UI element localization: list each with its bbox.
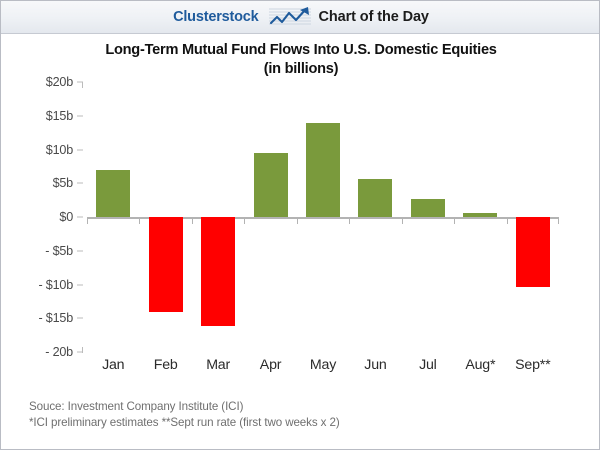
y-axis-top-cap bbox=[82, 82, 83, 88]
x-axis-label: Jun bbox=[364, 357, 386, 373]
chart-title: Long-Term Mutual Fund Flows Into U.S. Do… bbox=[1, 41, 600, 60]
x-axis-tick bbox=[192, 219, 193, 224]
plot-area bbox=[87, 82, 559, 353]
y-axis-tick bbox=[77, 82, 83, 83]
y-axis-label: $15b bbox=[46, 109, 73, 123]
bar-mar bbox=[201, 217, 235, 326]
x-axis-tick bbox=[558, 219, 559, 224]
bar-apr bbox=[254, 153, 288, 217]
x-axis-tick bbox=[507, 219, 508, 224]
x-axis-tick bbox=[139, 219, 140, 224]
y-axis-label: - $5b bbox=[45, 244, 73, 258]
y-axis-label: $0 bbox=[59, 210, 73, 224]
x-axis-label: Jan bbox=[102, 357, 124, 373]
x-axis-tick bbox=[297, 219, 298, 224]
x-axis-tick bbox=[454, 219, 455, 224]
y-axis-tick bbox=[77, 183, 83, 184]
bar-feb bbox=[149, 217, 183, 312]
y-axis-label: $20b bbox=[46, 75, 73, 89]
y-axis-label: $5b bbox=[53, 176, 73, 190]
y-axis-label: $10b bbox=[46, 143, 73, 157]
x-axis-tick bbox=[244, 219, 245, 224]
y-axis-label: - $15b bbox=[38, 311, 73, 325]
chart-title-block: Long-Term Mutual Fund Flows Into U.S. Do… bbox=[1, 41, 600, 79]
footnotes: Souce: Investment Company Institute (ICI… bbox=[29, 399, 340, 431]
y-axis-tick bbox=[77, 115, 83, 116]
x-axis-tick bbox=[402, 219, 403, 224]
bar-may bbox=[306, 123, 340, 217]
y-axis-tick bbox=[77, 149, 83, 150]
chart-of-the-day-image: Clusterstock Chart of the Day Long-Term … bbox=[0, 0, 600, 450]
x-axis-tick bbox=[349, 219, 350, 224]
y-axis-tick bbox=[77, 217, 83, 218]
y-axis-label: - 20b bbox=[45, 345, 73, 359]
y-axis: $20b$15b$10b$5b$0- $5b- $10b- $15b- 20b bbox=[1, 82, 83, 353]
bar-sep bbox=[516, 217, 550, 287]
y-axis-label: - $10b bbox=[38, 278, 73, 292]
x-axis-label: Sep** bbox=[515, 357, 550, 373]
y-axis-tick bbox=[77, 250, 83, 251]
x-axis-tick bbox=[87, 219, 88, 224]
x-axis-label: May bbox=[310, 357, 336, 373]
x-axis-label: Mar bbox=[206, 357, 230, 373]
x-axis-label: Apr bbox=[260, 357, 281, 373]
header-bar: Clusterstock Chart of the Day bbox=[1, 1, 600, 34]
estimate-note: *ICI preliminary estimates **Sept run ra… bbox=[29, 415, 340, 431]
line-chart-up-arrow-icon bbox=[268, 6, 312, 28]
x-axis-label: Jul bbox=[419, 357, 437, 373]
x-axis-label: Aug* bbox=[465, 357, 495, 373]
chart-subtitle: (in billions) bbox=[1, 60, 600, 79]
y-axis-tick bbox=[77, 284, 83, 285]
bar-jan bbox=[96, 170, 130, 217]
bar-jun bbox=[358, 179, 392, 217]
y-axis-tick bbox=[77, 352, 83, 353]
section-label: Chart of the Day bbox=[319, 9, 429, 25]
source-note: Souce: Investment Company Institute (ICI… bbox=[29, 399, 340, 415]
bar-jul bbox=[411, 199, 445, 217]
bar-aug bbox=[463, 213, 497, 217]
brand-label: Clusterstock bbox=[173, 9, 258, 25]
y-axis-tick bbox=[77, 318, 83, 319]
x-axis-label: Feb bbox=[154, 357, 178, 373]
